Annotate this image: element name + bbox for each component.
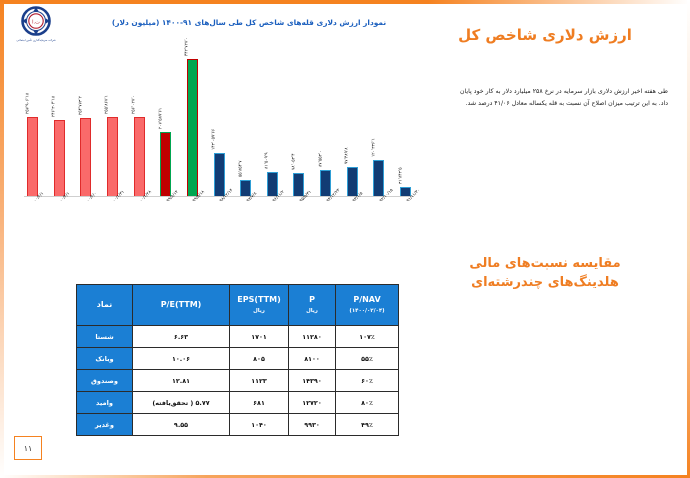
- column-header-eps-label: EPS(TTM): [237, 295, 280, 304]
- table-row: ۸۰٪۱۲۷۲۰۶۸۱۵.۷۷ ( تحقق‌یافته)وامید: [77, 392, 399, 414]
- chart-bar-value-label: ۱۴۳٬۰۵۹٬۶۶: [212, 128, 217, 149]
- chart-bar-column: ۸۷٬۵۵۳٬۰: [317, 52, 334, 197]
- chart-title: نمودار ارزش دلاری قله‌های شاخص کل طی سال…: [84, 18, 414, 27]
- slide-border-top: [0, 0, 690, 4]
- cell-eps: ۱۱۲۳: [230, 370, 289, 392]
- column-header-symbol: نماد: [77, 285, 133, 326]
- chart-bar: [267, 172, 278, 197]
- chart-bar: [214, 153, 225, 198]
- table-body: ۱۰۷٪۱۱۲۸۰۱۷۰۱۶.۶۳شستا۵۵٪۸۱۰۰۸۰۵۱۰.۰۶وبان…: [77, 326, 399, 436]
- chart-bar-column: ۲۵۵٬۸۶۷٬۱: [104, 52, 121, 197]
- chart-bar-column: ۴۴۲٬۷۲۷٬۰: [184, 52, 201, 197]
- chart-bar: [160, 132, 171, 197]
- chart-bar-value-label: ۲۰۷٬۵۸۹٬۶۱: [158, 108, 163, 129]
- cell-eps: ۱۷۰۱: [230, 326, 289, 348]
- cell-pnav: ۵۵٪: [336, 348, 399, 370]
- cell-eps: ۶۸۱: [230, 392, 289, 414]
- cell-symbol: وصندوق: [77, 370, 133, 392]
- holdings-ratios-table-wrapper: P/NAV (۱۴۰۰/۰۲/۰۴) P ریال EPS(TTM) ریال …: [76, 284, 399, 436]
- cell-symbol: شستا: [77, 326, 133, 348]
- chart-panel: نمودار ارزش دلاری قله‌های شاخص کل طی سال…: [14, 18, 414, 238]
- chart-bar: [187, 59, 198, 197]
- chart-bar: [27, 117, 38, 197]
- section-title-line2: هلدینگ‌های چندرشته‌ای: [420, 274, 670, 293]
- section-title-holdings: مقایسه نسبت‌های مالی هلدینگ‌های چندرشته‌…: [420, 255, 670, 293]
- chart-bar-value-label: ۸۷٬۵۵۳٬۰: [318, 150, 323, 167]
- chart-bar-value-label: ۹۷٬۴۸۹٬۸: [345, 147, 350, 164]
- table-row: ۶۰٪۱۴۳۹۰۱۱۲۳۱۲.۸۱وصندوق: [77, 370, 399, 392]
- column-header-eps-unit: ریال: [230, 307, 288, 315]
- cell-p: ۹۹۳۰: [289, 414, 336, 436]
- slide-border-left: [0, 0, 4, 478]
- chart-x-tick: ۹۲/۱۰/۱۵: [370, 200, 387, 242]
- chart-x-tick-labels: ۹۱/۱۱/۳۰۹۲/۱۰/۱۵۹۳/۱/۵۹۴/۱۲/۲۳۹۵/۵/۳۱۹۶/…: [24, 200, 414, 242]
- cell-p: ۱۲۷۲۰: [289, 392, 336, 414]
- chart-bar-column: ۹۷٬۴۸۹٬۸: [344, 52, 361, 197]
- table-row: ۵۵٪۸۱۰۰۸۰۵۱۰.۰۶وبانک: [77, 348, 399, 370]
- chart-x-tick: ۹۶/۱۱/۲: [264, 200, 281, 242]
- chart-bar: [134, 117, 145, 197]
- column-header-p-label: P: [309, 295, 315, 304]
- chart-bar-column: ۳۱٬۸۴۳٬۵: [397, 52, 414, 197]
- chart-x-tick: ۰۰/۱/۳۱: [104, 200, 121, 242]
- cell-symbol: وغدیر: [77, 414, 133, 436]
- chart-bar-column: ۲۴۶٬۳۰۴٬۱۸: [51, 52, 68, 197]
- chart-bar-value-label: ۵۵٬۸۵۴٬۷: [238, 160, 243, 177]
- chart-bars: ۳۱٬۸۴۳٬۵۱۲۰٬۳۳۶٬۱۹۷٬۴۸۹٬۸۸۷٬۵۵۳٬۰۷۸٬۰۵۳٬…: [24, 52, 414, 197]
- cell-pe: ۱۲.۸۱: [133, 370, 230, 392]
- cell-pnav: ۸۰٪: [336, 392, 399, 414]
- chart-bar-value-label: ۲۵۴٬۷۷۳٬۲: [78, 96, 83, 115]
- chart-x-tick: ۹۴/۱۲/۲۳: [317, 200, 334, 242]
- chart-bar: [80, 118, 91, 197]
- cell-eps: ۸۰۵: [230, 348, 289, 370]
- chart-x-tick: ۹۹/۵/۱۸: [184, 200, 201, 242]
- holdings-ratios-table: P/NAV (۱۴۰۰/۰۲/۰۴) P ریال EPS(TTM) ریال …: [76, 284, 399, 436]
- chart-x-tick: ۰۰/۱/۲۸: [131, 200, 148, 242]
- column-header-eps: EPS(TTM) ریال: [230, 285, 289, 326]
- cell-pnav: ۶۰٪: [336, 370, 399, 392]
- chart-bar-value-label: ۳۱٬۸۴۳٬۵: [398, 168, 403, 185]
- chart-x-tick: ۰۰/۲/۰: [77, 200, 94, 242]
- chart-bar-column: ۱۲۰٬۳۳۶٬۱: [370, 52, 387, 197]
- chart-bar-column: ۲۵۶٬۰۲۷٬۰: [131, 52, 148, 197]
- cell-symbol: وامید: [77, 392, 133, 414]
- chart-bar-column: ۱۴۳٬۰۵۹٬۶۶: [211, 52, 228, 197]
- chart-x-tick: ۹۳/۱/۵: [344, 200, 361, 242]
- chart-bar: [347, 167, 358, 197]
- chart-x-tick: ۹۷/۷/۸: [237, 200, 254, 242]
- chart-x-tick: ۹۱/۱۱/۳۰: [397, 200, 414, 242]
- chart-bar-column: ۲۵۷٬۹۰۶٬۱۸: [24, 52, 41, 197]
- chart-bar-column: ۵۵٬۸۵۴٬۷: [237, 52, 254, 197]
- page-number-badge: ۱۱: [14, 436, 42, 460]
- column-header-pnav-label: P/NAV: [353, 295, 380, 304]
- chart-bar: [320, 170, 331, 197]
- cell-p: ۱۱۲۸۰: [289, 326, 336, 348]
- chart-x-tick: ۰۰/۲/۱: [24, 200, 41, 242]
- chart-bar-value-label: ۲۵۶٬۰۲۷٬۰: [132, 95, 137, 114]
- column-header-pnav-date: (۱۴۰۰/۰۲/۰۴): [336, 307, 398, 315]
- column-header-p: P ریال: [289, 285, 336, 326]
- summary-paragraph: طی هفته اخیر ارزش دلاری بازار سرمایه در …: [460, 86, 668, 110]
- chart-bar-value-label: ۷۸٬۰۵۳٬۴: [291, 153, 296, 170]
- cell-pe: ۵.۷۷ ( تحقق‌یافته): [133, 392, 230, 414]
- cell-pnav: ۴۹٪: [336, 414, 399, 436]
- page-number: ۱۱: [24, 444, 33, 453]
- chart-bar-value-label: ۴۴۲٬۷۲۷٬۰: [185, 37, 190, 56]
- cell-p: ۱۴۳۹۰: [289, 370, 336, 392]
- chart-bar-value-label: ۸۱٬۵۰۹٬۹: [265, 152, 270, 169]
- chart-bar: [240, 180, 251, 197]
- page-title: ارزش دلاری شاخص کل: [420, 26, 670, 44]
- chart-bar: [293, 173, 304, 197]
- chart-x-tick: ۹۵/۵/۳۱: [290, 200, 307, 242]
- table-row: ۱۰۷٪۱۱۲۸۰۱۷۰۱۶.۶۳شستا: [77, 326, 399, 348]
- table-head: P/NAV (۱۴۰۰/۰۲/۰۴) P ریال EPS(TTM) ریال …: [77, 285, 399, 326]
- column-header-pe: P/E(TTM): [133, 285, 230, 326]
- column-header-pnav: P/NAV (۱۴۰۰/۰۲/۰۴): [336, 285, 399, 326]
- chart-x-tick: ۹۹/۸/۱۴: [157, 200, 174, 242]
- chart-bar-column: ۷۸٬۰۵۳٬۴: [290, 52, 307, 197]
- chart-bar-value-label: ۱۲۰٬۳۳۶٬۱: [371, 138, 376, 157]
- cell-pe: ۱۰.۰۶: [133, 348, 230, 370]
- cell-pe: ۹.۵۵: [133, 414, 230, 436]
- cell-pe: ۶.۶۳: [133, 326, 230, 348]
- chart-bar-column: ۲۵۴٬۷۷۳٬۲: [77, 52, 94, 197]
- chart-bar: [107, 117, 118, 197]
- cell-p: ۸۱۰۰: [289, 348, 336, 370]
- column-header-p-unit: ریال: [289, 307, 335, 315]
- chart-x-tick: ۰۰/۲/۱: [51, 200, 68, 242]
- chart-bar-value-label: ۲۵۷٬۹۰۶٬۱۸: [25, 93, 30, 114]
- table-header-row: P/NAV (۱۴۰۰/۰۲/۰۴) P ریال EPS(TTM) ریال …: [77, 285, 399, 326]
- chart-bar-column: ۲۰۷٬۵۸۹٬۶۱: [157, 52, 174, 197]
- chart-bar-value-label: ۲۵۵٬۸۶۷٬۱: [105, 96, 110, 115]
- cell-symbol: وبانک: [77, 348, 133, 370]
- chart-x-tick: ۹۸/۱۲/۱۴: [211, 200, 228, 242]
- chart-bar-column: ۸۱٬۵۰۹٬۹: [264, 52, 281, 197]
- chart-bar: [373, 160, 384, 197]
- chart-plot-area: ۳۱٬۸۴۳٬۵۱۲۰٬۳۳۶٬۱۹۷٬۴۸۹٬۸۸۷٬۵۵۳٬۰۷۸٬۰۵۳٬…: [24, 52, 414, 197]
- table-row: ۴۹٪۹۹۳۰۱۰۴۰۹.۵۵وغدیر: [77, 414, 399, 436]
- cell-eps: ۱۰۴۰: [230, 414, 289, 436]
- chart-bar: [54, 120, 65, 197]
- section-title-line1: مقایسه نسبت‌های مالی: [420, 255, 670, 274]
- cell-pnav: ۱۰۷٪: [336, 326, 399, 348]
- chart-bar-value-label: ۲۴۶٬۳۰۴٬۱۸: [52, 96, 57, 117]
